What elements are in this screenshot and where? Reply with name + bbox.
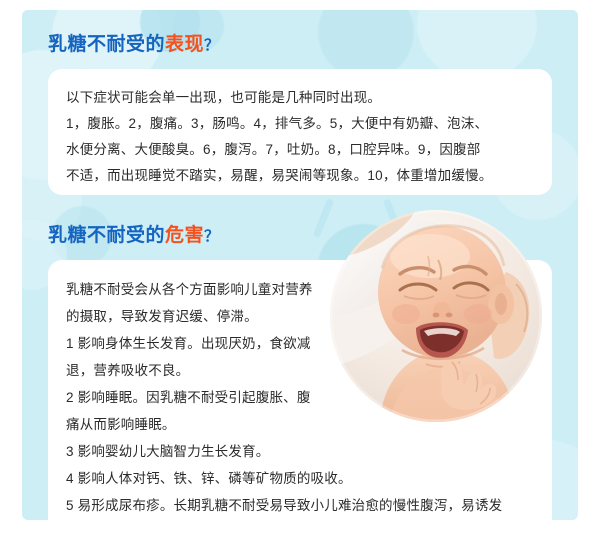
harms-intro-line: 乳糖不耐受会从各个方面影响儿童对营养 bbox=[66, 276, 334, 303]
heading-prefix: 乳糖不耐受的 bbox=[48, 34, 165, 55]
section-symptoms-heading: 乳糖不耐受的表现？ bbox=[48, 10, 578, 56]
harms-item-line: 退，营养吸收不良。 bbox=[66, 357, 334, 384]
symptoms-line: 不适，而出现睡觉不踏实，易醒，易哭闹等现象。10，体重增加缓慢。 bbox=[66, 163, 534, 189]
harms-item-line: 4 影响人体对钙、铁、锌、磷等矿物质的吸收。 bbox=[66, 465, 534, 492]
harms-item-line: 5 易形成尿布疹。长期乳糖不耐受易导致小儿难治愈的慢性腹泻，易诱发 bbox=[66, 492, 534, 519]
heading-accent: 表现 bbox=[165, 34, 204, 55]
symptoms-text-card: 以下症状可能会单一出现，也可能是几种同时出现。 1，腹胀。2，腹痛。3，肠鸣。4… bbox=[48, 69, 552, 195]
symptoms-line: 以下症状可能会单一出现，也可能是几种同时出现。 bbox=[66, 85, 534, 111]
crying-baby-photo bbox=[330, 210, 542, 422]
symptoms-line: 水便分离、大便酸臭。6，腹泻。7，吐奶。8，口腔异味。9，因腹部 bbox=[66, 137, 534, 163]
symptoms-body: 以下症状可能会单一出现，也可能是几种同时出现。 1，腹胀。2，腹痛。3，肠鸣。4… bbox=[66, 85, 534, 189]
harms-item-line: 痛从而影响睡眠。 bbox=[66, 411, 334, 438]
harms-item-line: 1 影响身体生长发育。出现厌奶，食欲减 bbox=[66, 330, 334, 357]
harms-item-line: 2 影响睡眠。因乳糖不耐受引起腹胀、腹 bbox=[66, 384, 334, 411]
harms-intro-line: 的摄取，导致发育迟缓、停滞。 bbox=[66, 303, 334, 330]
heading-question-mark: ？ bbox=[204, 228, 220, 245]
heading-accent: 危害 bbox=[165, 225, 204, 246]
heading-question-mark: ？ bbox=[204, 37, 220, 54]
section-symptoms: 乳糖不耐受的表现？ 以下症状可能会单一出现，也可能是几种同时出现。 1，腹胀。2… bbox=[22, 10, 578, 195]
harms-item-line: 3 影响婴幼儿大脑智力生长发育。 bbox=[66, 438, 334, 465]
harms-item-line: 尿布疹。 bbox=[66, 519, 534, 520]
symptoms-line: 1，腹胀。2，腹痛。3，肠鸣。4，排气多。5，大便中有奶瓣、泡沫、 bbox=[66, 111, 534, 137]
heading-prefix: 乳糖不耐受的 bbox=[48, 225, 165, 246]
